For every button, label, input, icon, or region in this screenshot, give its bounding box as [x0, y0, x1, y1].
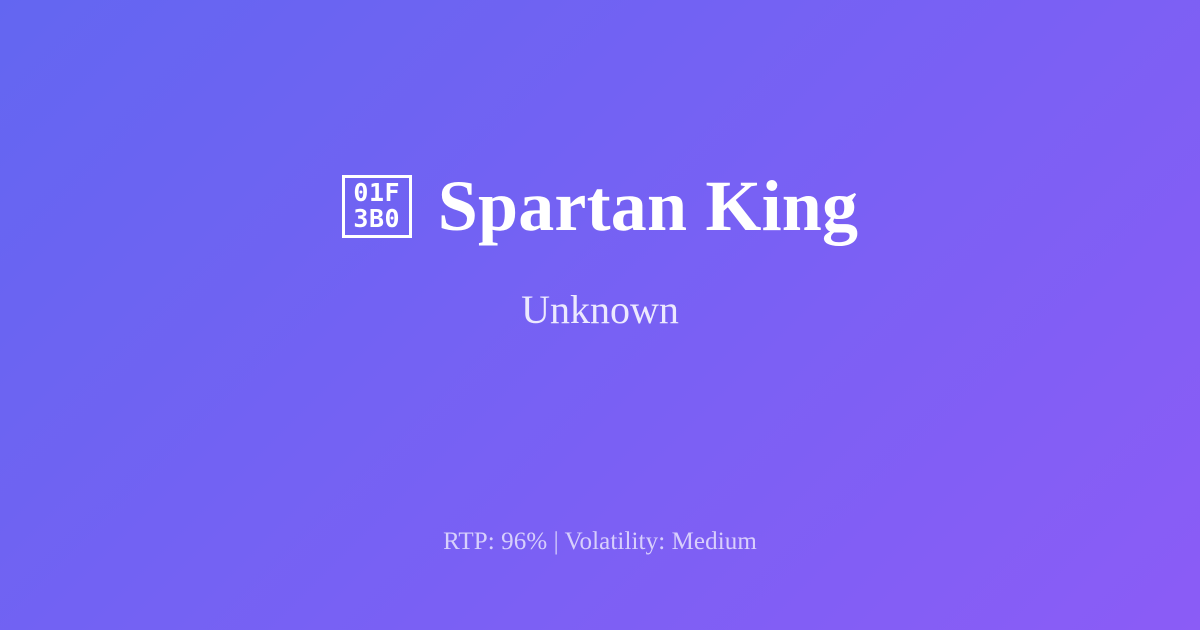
slot-machine-emoji-icon: 01F 3B0 — [342, 175, 412, 238]
game-title: Spartan King — [438, 168, 859, 244]
og-share-card: 01F 3B0 Spartan King Unknown RTP: 96% | … — [0, 0, 1200, 630]
game-provider: Unknown — [521, 288, 679, 332]
slot-machine-emoji-codepoint-top: 01F — [353, 180, 400, 206]
game-stats-line: RTP: 96% | Volatility: Medium — [0, 527, 1200, 557]
slot-machine-emoji-codepoint-bottom: 3B0 — [353, 206, 400, 232]
title-row: 01F 3B0 Spartan King — [342, 168, 859, 244]
hero-block: 01F 3B0 Spartan King Unknown — [0, 0, 1200, 500]
